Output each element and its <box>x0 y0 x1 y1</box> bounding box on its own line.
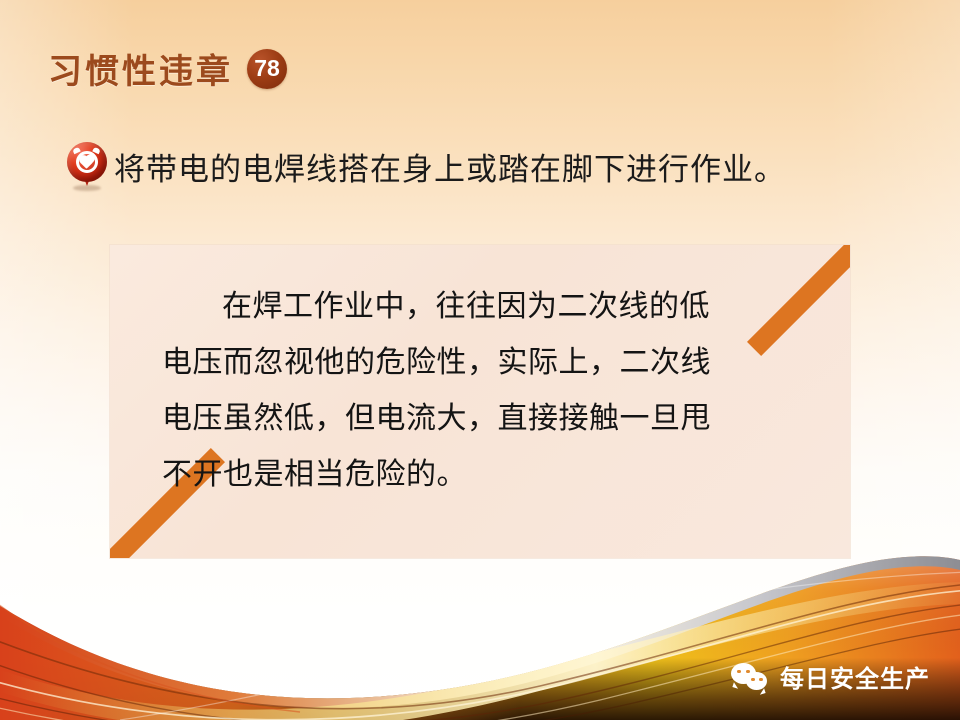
red-pin-alarm-clock-icon <box>64 140 110 192</box>
slide-header: 习惯性违章 78 <box>48 44 287 93</box>
wechat-dot-2 <box>746 670 750 674</box>
wechat-account-name: 每日安全生产 <box>780 659 930 694</box>
panel-body-text: 在焊工作业中，往往因为二次线的低 电压而忽视他的危险性，实际上，二次线 电压虽然… <box>110 279 850 503</box>
slide-canvas: 习惯性违章 78 将带电的电焊线搭在身上或踏在脚下进行作业。 在焊工作业中，往往… <box>0 0 960 720</box>
panel-line-4: 不开也是相当危险的。 <box>138 447 822 503</box>
status-badge: 78 <box>247 49 287 89</box>
panel-line-2: 电压而忽视他的危险性，实际上，二次线 <box>138 335 822 391</box>
panel-line-1: 在焊工作业中，往往因为二次线的低 <box>138 279 822 335</box>
wechat-dot-4 <box>759 678 763 682</box>
content-panel: 在焊工作业中，往往因为二次线的低 电压而忽视他的危险性，实际上，二次线 电压虽然… <box>110 245 850 558</box>
wechat-bubble-small <box>746 672 767 690</box>
page-title: 习惯性违章 <box>48 44 233 93</box>
subtitle-row: 将带电的电焊线搭在身上或踏在脚下进行作业。 <box>64 140 924 192</box>
wechat-dot-1 <box>737 670 741 674</box>
subtitle-text: 将带电的电焊线搭在身上或踏在脚下进行作业。 <box>114 144 786 189</box>
wechat-footer: 每日安全生产 <box>731 659 930 694</box>
wechat-icon <box>731 662 771 692</box>
panel-line-3: 电压虽然低，但电流大，直接接触一旦甩 <box>138 391 822 447</box>
wechat-dot-3 <box>751 678 755 682</box>
